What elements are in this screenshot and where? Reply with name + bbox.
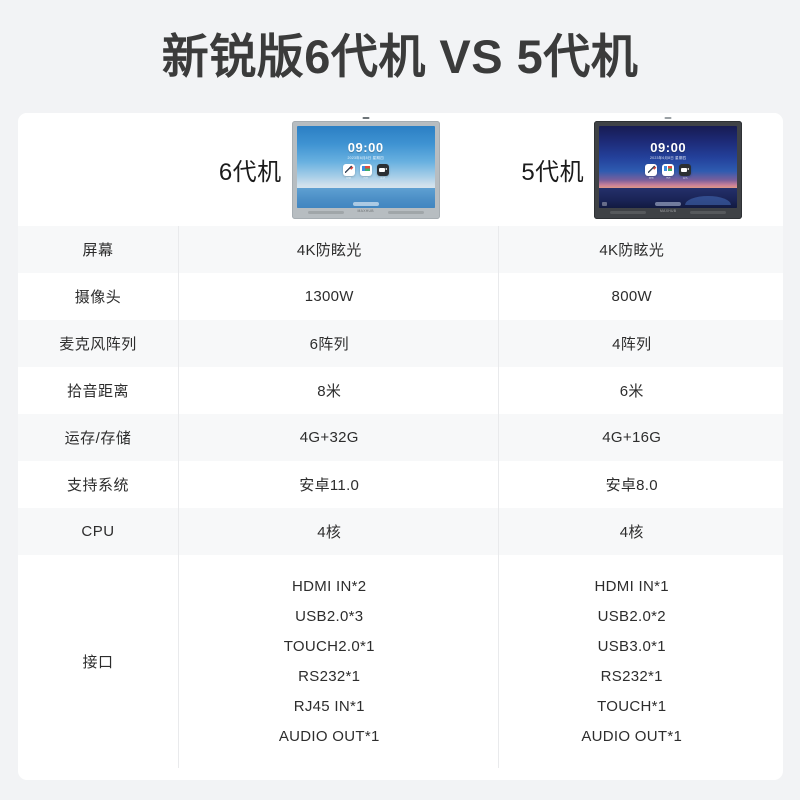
ports-value-gen5: HDMI IN*1 USB2.0*2 USB3.0*1 RS232*1 TOUC…	[481, 555, 784, 768]
page-title: 新锐版6代机 VS 5代机	[162, 33, 639, 80]
product-header-gen6: 6代机 09:00 2023年6月8日 星期四 白板 传屏	[178, 113, 481, 226]
port-item: USB2.0*3	[295, 602, 363, 632]
speaker-grill-right-icon	[388, 211, 424, 214]
ports-value-gen6: HDMI IN*2 USB2.0*3 TOUCH2.0*1 RS232*1 RJ…	[178, 555, 481, 768]
screen-share-app-label: 传屏	[662, 177, 674, 180]
meeting-app-icon	[679, 164, 691, 176]
spec-value-gen5: 800W	[481, 273, 784, 320]
meeting-app-label: 会议	[679, 177, 691, 180]
ports-label: 接口	[18, 555, 178, 768]
spec-value-gen5: 4核	[481, 508, 784, 555]
ports-list-gen6: HDMI IN*2 USB2.0*3 TOUCH2.0*1 RS232*1 RJ…	[279, 572, 380, 752]
whiteboard-app-label: 白板	[645, 177, 657, 180]
spec-comparison-table: 屏幕 4K防眩光 4K防眩光 摄像头 1300W 800W 麦克风阵列 6阵列 …	[18, 226, 783, 768]
port-item: AUDIO OUT*1	[581, 722, 682, 752]
gen5-bezel-chin: MAXHUB	[594, 208, 742, 219]
gen6-label: 6代机	[219, 152, 282, 187]
whiteboard-app-icon	[343, 164, 355, 176]
speaker-grill-right-icon	[690, 211, 726, 214]
gen5-brand-logo: MAXHUB	[660, 210, 676, 213]
port-item: TOUCH2.0*1	[284, 632, 375, 662]
table-row: 麦克风阵列 6阵列 4阵列	[18, 320, 783, 367]
comparison-page: 新锐版6代机 VS 5代机 6代机 09:00 2023年6月8日 星期四	[0, 0, 800, 800]
spec-label: 屏幕	[18, 226, 178, 273]
spec-label: 支持系统	[18, 461, 178, 508]
gen5-device-image: 09:00 2023年6月8日 星期四 白板 传屏 会议	[594, 121, 742, 219]
gen6-app-icons	[297, 164, 435, 176]
table-row-ports: 接口 HDMI IN*2 USB2.0*3 TOUCH2.0*1 RS232*1…	[18, 555, 783, 768]
spec-value-gen6: 6阵列	[178, 320, 481, 367]
gen6-device-image: 09:00 2023年6月8日 星期四 白板 传屏 会议	[292, 121, 440, 219]
camera-icon	[362, 117, 369, 119]
spec-value-gen5: 4K防眩光	[481, 226, 784, 273]
port-item: RJ45 IN*1	[294, 692, 365, 722]
gen5-app-labels: 白板 传屏 会议	[599, 177, 737, 180]
gen5-corner-badge-icon	[602, 202, 607, 206]
port-item: HDMI IN*1	[595, 572, 669, 602]
whiteboard-app-label: 白板	[343, 177, 355, 180]
spec-value-gen6: 4K防眩光	[178, 226, 481, 273]
speaker-grill-left-icon	[610, 211, 646, 214]
speaker-grill-left-icon	[308, 211, 344, 214]
product-header-row: 6代机 09:00 2023年6月8日 星期四 白板 传屏	[18, 113, 783, 226]
gen5-date: 2023年6月8日 星期四	[599, 157, 737, 161]
port-item: TOUCH*1	[597, 692, 666, 722]
port-item: HDMI IN*2	[292, 572, 366, 602]
screen-share-app-icon	[662, 164, 674, 176]
port-item: USB2.0*2	[598, 602, 666, 632]
spec-label: 麦克风阵列	[18, 320, 178, 367]
port-item: AUDIO OUT*1	[279, 722, 380, 752]
spec-value-gen5: 6米	[481, 367, 784, 414]
spec-label: 摄像头	[18, 273, 178, 320]
column-divider-left	[178, 226, 179, 768]
spec-value-gen6: 安卓11.0	[178, 461, 481, 508]
spec-value-gen6: 4G+32G	[178, 414, 481, 461]
spec-value-gen6: 8米	[178, 367, 481, 414]
gen5-screen: 09:00 2023年6月8日 星期四 白板 传屏 会议	[599, 126, 737, 208]
gen5-app-icons	[599, 164, 737, 176]
gen6-app-labels: 白板 传屏 会议	[297, 177, 435, 180]
screen-share-app-label: 传屏	[360, 177, 372, 180]
table-row: 拾音距离 8米 6米	[18, 367, 783, 414]
port-item: USB3.0*1	[598, 632, 666, 662]
spec-value-gen6: 4核	[178, 508, 481, 555]
gen5-label: 5代机	[521, 152, 584, 187]
table-row: 运存/存储 4G+32G 4G+16G	[18, 414, 783, 461]
table-row: CPU 4核 4核	[18, 508, 783, 555]
spec-value-gen5: 4G+16G	[481, 414, 784, 461]
whiteboard-app-icon	[645, 164, 657, 176]
spec-value-gen5: 安卓8.0	[481, 461, 784, 508]
port-item: RS232*1	[298, 662, 360, 692]
comparison-card: 6代机 09:00 2023年6月8日 星期四 白板 传屏	[18, 113, 783, 780]
camera-icon	[665, 117, 672, 119]
header-spacer	[18, 113, 178, 226]
table-row: 支持系统 安卓11.0 安卓8.0	[18, 461, 783, 508]
gen6-brand-logo: MAXHUB	[358, 210, 374, 213]
gen6-date: 2023年6月8日 星期四	[297, 157, 435, 161]
product-header-gen5: 5代机 09:00 2023年6月8日 星期四 白板 传屏	[481, 113, 784, 226]
gen6-bezel-chin: MAXHUB	[292, 208, 440, 219]
spec-value-gen5: 4阵列	[481, 320, 784, 367]
gen6-clock: 09:00	[297, 141, 435, 154]
meeting-app-label: 会议	[377, 177, 389, 180]
port-item: RS232*1	[601, 662, 663, 692]
spec-label: 运存/存储	[18, 414, 178, 461]
column-divider-right	[498, 226, 499, 768]
gen6-screen: 09:00 2023年6月8日 星期四 白板 传屏 会议	[297, 126, 435, 208]
page-title-bar: 新锐版6代机 VS 5代机	[0, 0, 800, 113]
table-row: 摄像头 1300W 800W	[18, 273, 783, 320]
gen5-clock: 09:00	[599, 141, 737, 154]
spec-label: 拾音距离	[18, 367, 178, 414]
spec-label: CPU	[18, 508, 178, 555]
ports-list-gen5: HDMI IN*1 USB2.0*2 USB3.0*1 RS232*1 TOUC…	[581, 572, 682, 752]
gen5-taskbar	[655, 202, 681, 206]
meeting-app-icon	[377, 164, 389, 176]
spec-value-gen6: 1300W	[178, 273, 481, 320]
screen-share-app-icon	[360, 164, 372, 176]
table-row: 屏幕 4K防眩光 4K防眩光	[18, 226, 783, 273]
gen6-taskbar	[353, 202, 379, 206]
